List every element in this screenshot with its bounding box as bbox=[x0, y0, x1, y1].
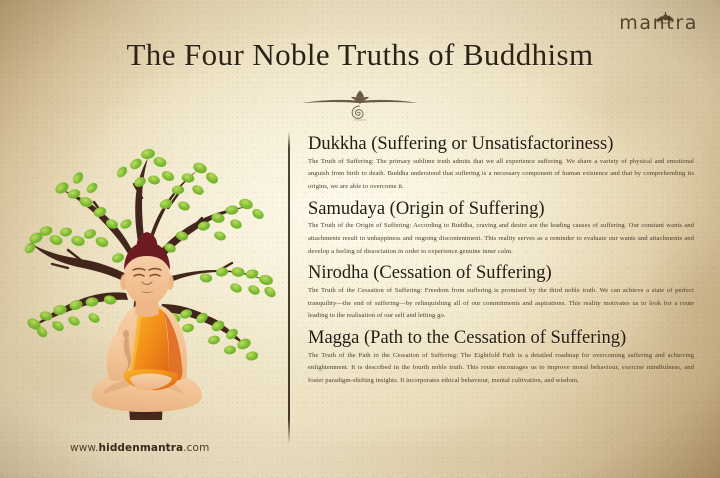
truth-body-dukkha: The Truth of Suffering: The primary subl… bbox=[308, 156, 694, 194]
url-brand: hiddenmantra bbox=[99, 442, 184, 454]
truth-body-nirodha: The Truth of the Cessation of Suffering:… bbox=[308, 285, 694, 323]
truth-item-samudaya: Samudaya (Origin of Suffering) The Truth… bbox=[308, 199, 694, 259]
title-divider-ornament bbox=[0, 88, 720, 122]
truth-heading-nirodha: Nirodha (Cessation of Suffering) bbox=[308, 263, 694, 284]
truth-body-magga: The Truth of the Path to the Cessation o… bbox=[308, 350, 694, 388]
brand-logo-text: mantra bbox=[619, 14, 698, 33]
url-prefix: www. bbox=[70, 442, 99, 454]
truth-body-samudaya: The Truth of the Origin of Suffering: Ac… bbox=[308, 220, 694, 258]
buddha-bodhi-tree-illustration bbox=[22, 128, 280, 420]
url-suffix: .com bbox=[183, 442, 209, 454]
truths-list: Dukkha (Suffering or Unsatisfactoriness)… bbox=[308, 134, 694, 388]
brand-logo: mantra bbox=[619, 14, 698, 33]
poster-canvas: mantra The Four Noble Truths of Buddhism bbox=[0, 0, 720, 478]
truth-heading-magga: Magga (Path to the Cessation of Sufferin… bbox=[308, 328, 694, 349]
truth-heading-samudaya: Samudaya (Origin of Suffering) bbox=[308, 199, 694, 220]
page-title: The Four Noble Truths of Buddhism bbox=[0, 37, 720, 73]
truth-item-dukkha: Dukkha (Suffering or Unsatisfactoriness)… bbox=[308, 134, 694, 194]
truth-heading-dukkha: Dukkha (Suffering or Unsatisfactoriness) bbox=[308, 134, 694, 155]
truth-item-magga: Magga (Path to the Cessation of Sufferin… bbox=[308, 328, 694, 388]
column-divider bbox=[288, 132, 290, 444]
website-url[interactable]: www.hiddenmantra.com bbox=[70, 442, 209, 454]
truth-item-nirodha: Nirodha (Cessation of Suffering) The Tru… bbox=[308, 263, 694, 323]
